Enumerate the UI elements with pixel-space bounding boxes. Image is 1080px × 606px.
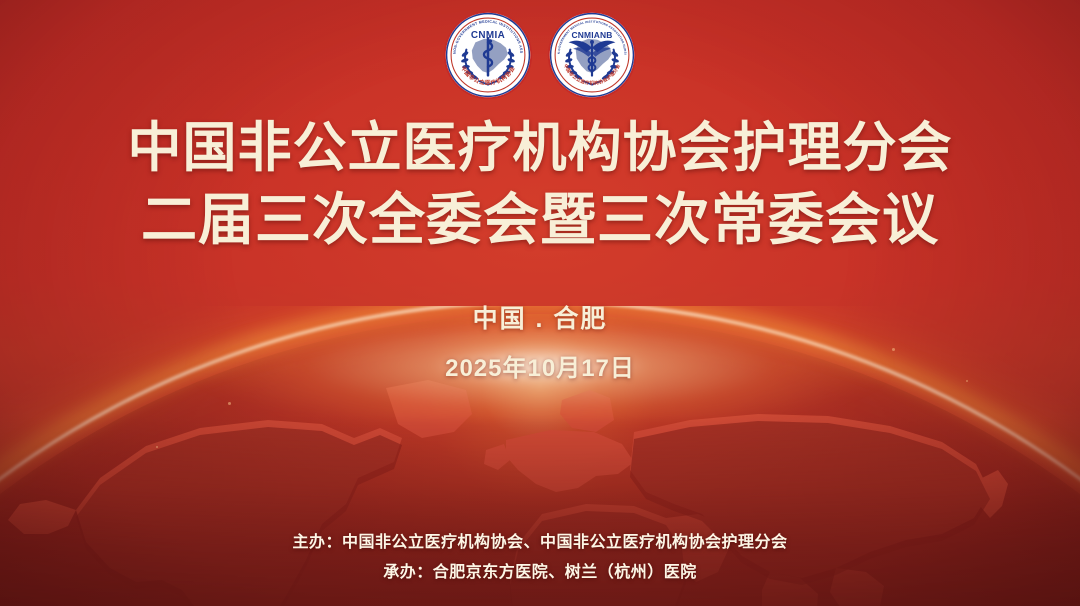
footer-block: 主办：中国非公立医疗机构协会、中国非公立医疗机构协会护理分会 承办：合肥京东方医… bbox=[0, 528, 1080, 588]
cnmianb-emblem: CHINESE NON-GOVERNMENT MEDICAL INSTITUTI… bbox=[547, 10, 637, 100]
title-line-2: 二届三次全委会暨三次常委会议 bbox=[0, 184, 1080, 256]
svg-text:CNMIA: CNMIA bbox=[471, 30, 505, 41]
svg-text:CNMIANB: CNMIANB bbox=[571, 30, 612, 40]
meta-block: 中国 . 合肥 2025年10月17日 bbox=[0, 302, 1080, 386]
event-date: 2025年10月17日 bbox=[0, 352, 1080, 386]
conference-banner: CHINESE NON-GOVERNMENT MEDICAL INSTITUTI… bbox=[0, 0, 1080, 606]
host-line: 承办：合肥京东方医院、树兰（杭州）医院 bbox=[0, 558, 1080, 588]
cnmia-emblem: CHINESE NON-GOVERNMENT MEDICAL INSTITUTI… bbox=[443, 10, 533, 100]
organizer-line: 主办：中国非公立医疗机构协会、中国非公立医疗机构协会护理分会 bbox=[0, 528, 1080, 558]
headline-block: 中国非公立医疗机构协会护理分会 二届三次全委会暨三次常委会议 bbox=[0, 112, 1080, 256]
emblem-row: CHINESE NON-GOVERNMENT MEDICAL INSTITUTI… bbox=[443, 10, 637, 100]
title-line-1: 中国非公立医疗机构协会护理分会 bbox=[0, 112, 1080, 184]
event-location: 中国 . 合肥 bbox=[0, 302, 1080, 336]
